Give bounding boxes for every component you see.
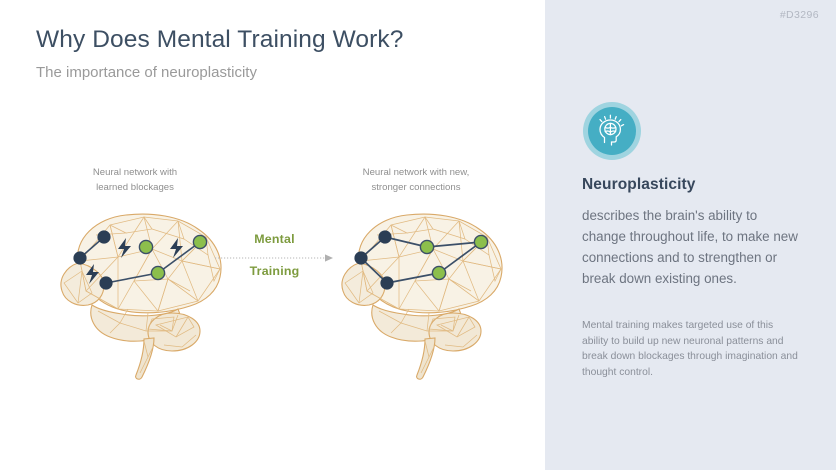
panel-note-text: Mental training makes targeted use of th… [582, 318, 798, 380]
page-subtitle: The importance of neuroplasticity [36, 64, 257, 81]
caption-right-brain: Neural network with new, stronger connec… [321, 165, 511, 195]
slide-canvas: Why Does Mental Training Work? The impor… [0, 0, 836, 470]
low-poly-brain-connected-icon [329, 205, 514, 385]
caption-left-line-1: Neural network with [40, 165, 230, 180]
mental-training-transition: Mental Training [212, 228, 337, 290]
dotted-arrow-right-icon [215, 252, 335, 264]
slide-main-area: Why Does Mental Training Work? The impor… [0, 0, 545, 470]
transition-label-line-1: Mental [212, 232, 337, 246]
panel-heading: Neuroplasticity [582, 176, 695, 194]
info-side-panel: #D3296 Neuro [545, 0, 836, 470]
slide-id-tag: #D3296 [780, 9, 819, 21]
head-brain-idea-icon [582, 101, 642, 161]
caption-left-line-2: learned blockages [40, 180, 230, 195]
caption-left-brain: Neural network with learned blockages [40, 165, 230, 195]
caption-right-line-2: stronger connections [321, 180, 511, 195]
page-title: Why Does Mental Training Work? [36, 26, 403, 54]
caption-right-line-1: Neural network with new, [321, 165, 511, 180]
panel-body-text: describes the brain's ability to change … [582, 205, 798, 289]
low-poly-brain-blocked-icon [48, 205, 233, 385]
transition-label-line-2: Training [212, 264, 337, 278]
